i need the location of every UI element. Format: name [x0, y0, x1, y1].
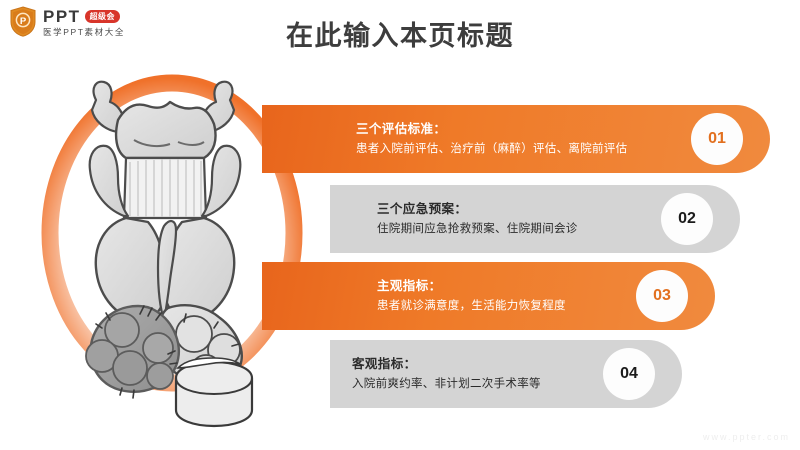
list-item-description: 入院前爽约率、非计划二次手术率等 [352, 375, 541, 394]
list-item-description: 患者就诊满意度，生活能力恢复程度 [377, 297, 566, 316]
status-badge-number: 01 [708, 130, 726, 148]
list-item-description: 患者入院前评估、治疗前（麻醉）评估、离院前评估 [356, 140, 627, 159]
list-item-heading: 三个应急预案： [377, 200, 578, 218]
status-badge[interactable]: 02 [661, 193, 713, 245]
list-item-description: 住院期间应急抢救预案、住院期间会诊 [377, 220, 578, 239]
page-title: 在此输入本页标题 [0, 14, 800, 53]
status-badge[interactable]: 04 [603, 348, 655, 400]
status-badge-number: 03 [653, 287, 671, 305]
status-badge[interactable]: 01 [691, 113, 743, 165]
list-item-heading: 三个评估标准： [356, 120, 627, 138]
footer-watermark: www.ppter.com [703, 432, 790, 442]
slide-header: P PPT 超级会 医学PPT素材大全 在此输入本页标题 [0, 0, 800, 60]
status-badge-number: 04 [620, 365, 638, 383]
list-item-heading: 主观指标： [377, 277, 566, 295]
list-item-heading: 客观指标： [352, 355, 541, 373]
status-badge[interactable]: 03 [636, 270, 688, 322]
status-badge-number: 02 [678, 210, 696, 228]
